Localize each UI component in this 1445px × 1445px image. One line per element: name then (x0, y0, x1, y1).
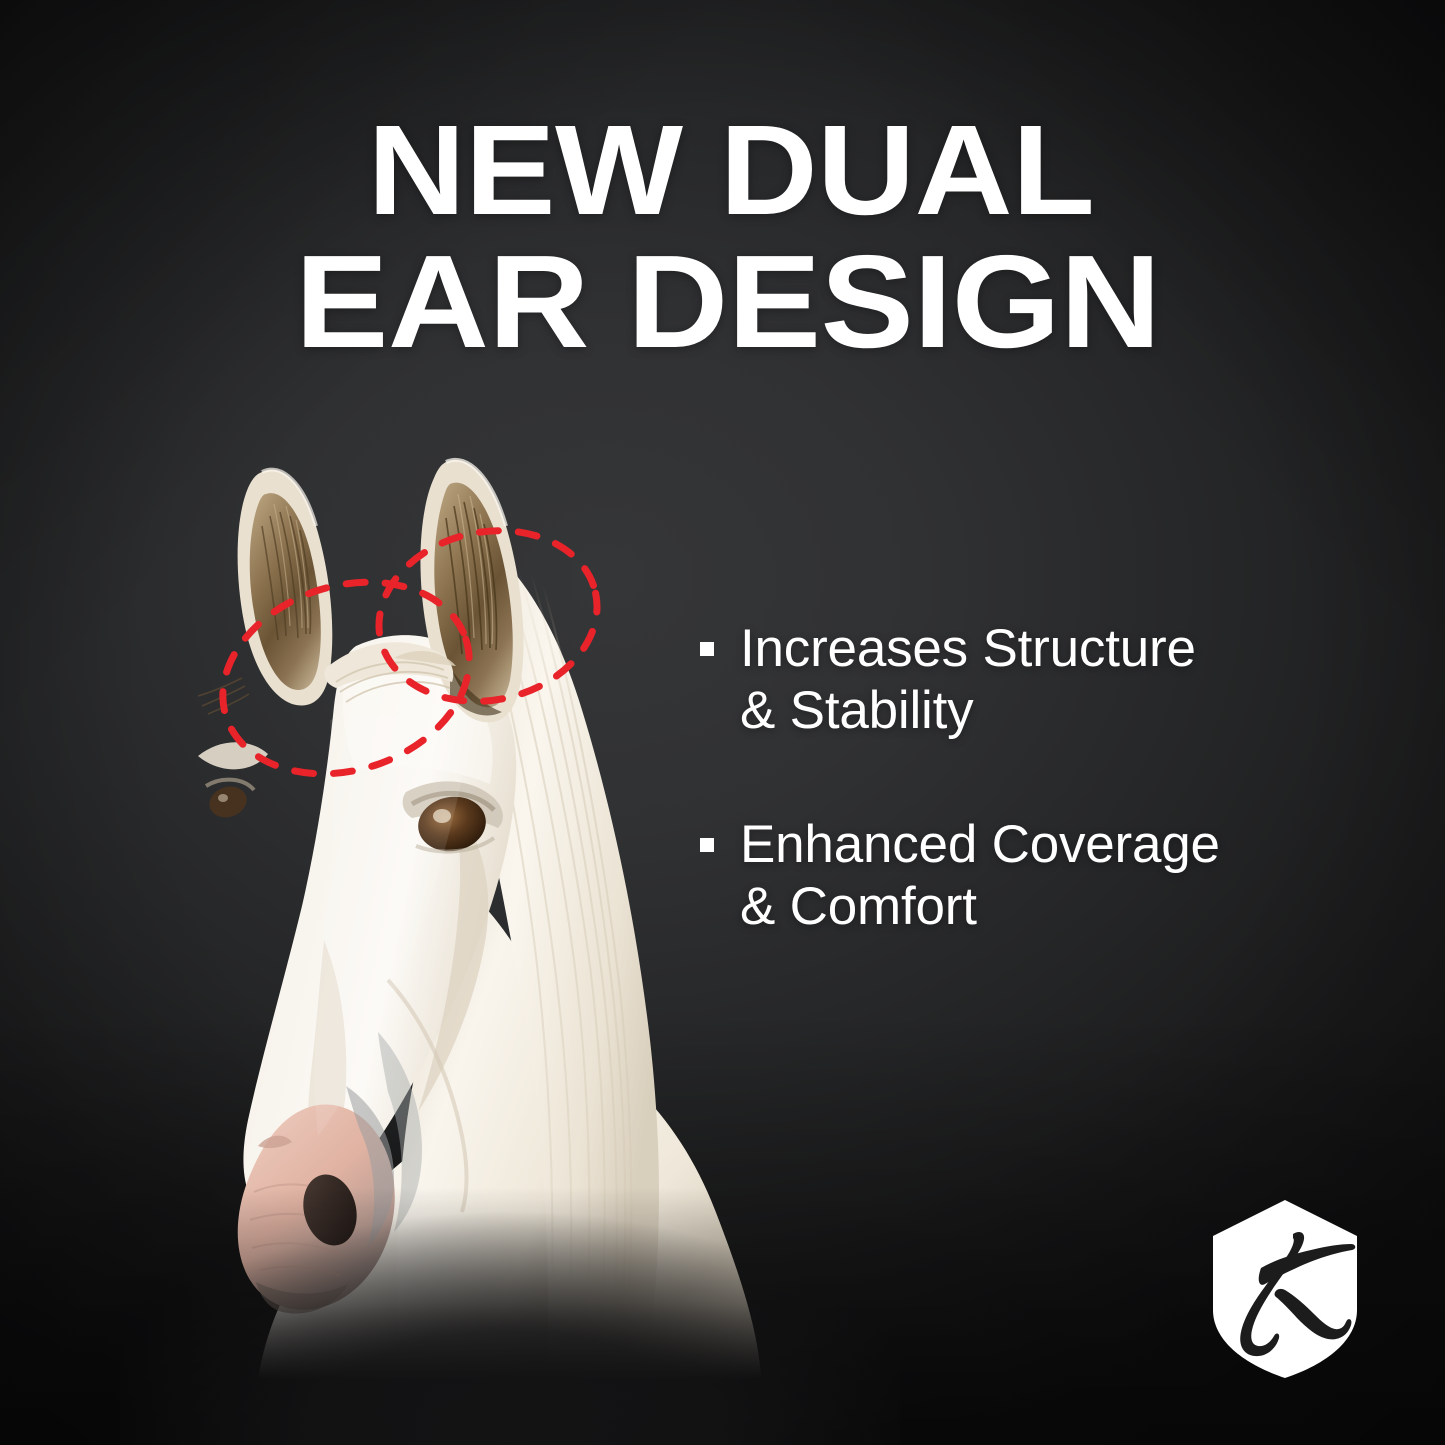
list-item: Enhanced Coverage & Comfort (700, 814, 1360, 938)
promo-image-canvas: NEW DUAL EAR DESIGN Increases Structure … (0, 0, 1445, 1445)
benefit-2-line-1: Enhanced Coverage (740, 815, 1220, 874)
benefit-1-line-2: & Stability (740, 681, 973, 740)
headline: NEW DUAL EAR DESIGN (0, 108, 1445, 367)
benefit-1-line-1: Increases Structure (740, 619, 1196, 678)
brand-logo (1207, 1198, 1363, 1380)
shield-icon (1213, 1200, 1357, 1378)
benefit-text-2: Enhanced Coverage & Comfort (740, 814, 1220, 938)
headline-line-1: NEW DUAL (0, 108, 1445, 235)
square-bullet-icon (700, 642, 714, 656)
benefit-2-line-2: & Comfort (740, 877, 977, 936)
benefits-list: Increases Structure & Stability Enhanced… (700, 618, 1360, 938)
headline-line-2: EAR DESIGN (0, 237, 1445, 368)
list-item: Increases Structure & Stability (700, 618, 1360, 742)
square-bullet-icon (700, 838, 714, 852)
benefit-text-1: Increases Structure & Stability (740, 618, 1196, 742)
